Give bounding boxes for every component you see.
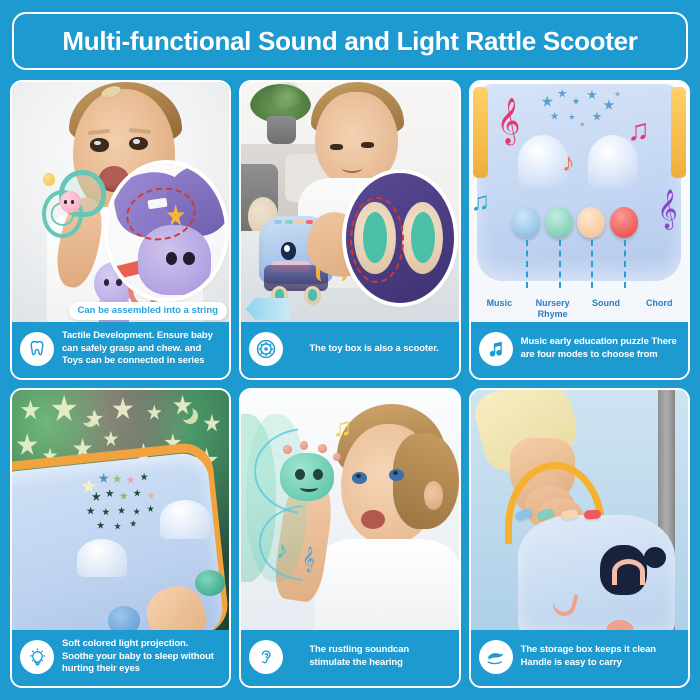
speaker-dome xyxy=(160,500,210,538)
infographic-page: Multi-functional Sound and Light Rattle … xyxy=(0,0,700,700)
star-sparkles xyxy=(536,87,627,135)
panel-music-caption-text: Music early education puzzle There are f… xyxy=(521,336,680,361)
projected-star-cluster xyxy=(79,472,166,539)
panel-scooter-photo xyxy=(241,82,458,322)
panel-tactile-caption-text: Tactile Development. Ensure baby can saf… xyxy=(62,330,221,368)
mode-label-chord: Chord xyxy=(637,298,682,320)
panel-storage-photo xyxy=(471,390,688,630)
panel-hearing-photo: ♫ ♪ 𝄞 xyxy=(241,390,458,630)
treble-clef-icon: 𝄞 xyxy=(302,548,315,570)
mode-button-nursery-rhyme[interactable] xyxy=(545,207,573,238)
music-note-icon xyxy=(479,332,513,366)
panel-projection-caption: Soft colored light projection. Soothe yo… xyxy=(12,630,229,686)
panel-hearing-caption: The rustling soundcan stimulate the hear… xyxy=(241,630,458,686)
panel-music-caption: Music early education puzzle There are f… xyxy=(471,322,688,378)
music-note-icon: ♪ xyxy=(276,539,288,563)
wheel-detail-inset xyxy=(346,173,455,303)
panel-projection: Soft colored light projection. Soothe yo… xyxy=(10,388,231,688)
panel-scooter: The toy box is also a scooter. xyxy=(239,80,460,380)
mode-label-row: Music Nursery Rhyme Sound Chord xyxy=(471,298,688,320)
page-title-bar: Multi-functional Sound and Light Rattle … xyxy=(12,12,688,70)
mode-button-chord[interactable] xyxy=(584,509,602,519)
wheel-icon xyxy=(249,332,283,366)
ear-icon xyxy=(249,640,283,674)
panel-hearing-caption-text: The rustling soundcan stimulate the hear… xyxy=(291,644,450,669)
panel-storage-caption: The storage box keeps it clean Handle is… xyxy=(471,630,688,686)
storage-toy-box xyxy=(518,515,674,630)
music-note-icon: ♪ xyxy=(562,149,575,175)
panel-storage-caption-text: The storage box keeps it clean Handle is… xyxy=(521,644,680,669)
panel-tactile-caption: Tactile Development. Ensure baby can saf… xyxy=(12,322,229,378)
panel-storage: The storage box keeps it clean Handle is… xyxy=(469,388,690,688)
mode-label-nursery-rhyme: Nursery Rhyme xyxy=(530,298,575,320)
mode-label-sound: Sound xyxy=(583,298,628,320)
hand-wipe-icon xyxy=(479,640,513,674)
panel-projection-photo xyxy=(12,390,229,630)
treble-clef-icon: 𝄞 xyxy=(497,101,521,141)
blue-button[interactable] xyxy=(108,606,141,630)
panel-scooter-caption: The toy box is also a scooter. xyxy=(241,322,458,378)
mode-button-chord[interactable] xyxy=(610,207,638,238)
music-note-icon: ♫ xyxy=(471,188,491,214)
teether-toy xyxy=(40,168,105,240)
mode-button-sound[interactable] xyxy=(560,509,578,520)
speaker-dome xyxy=(77,539,127,577)
panel-projection-caption-text: Soft colored light projection. Soothe yo… xyxy=(62,638,221,676)
highlight-dashed-ellipse xyxy=(350,197,404,284)
mode-label-music: Music xyxy=(477,298,522,320)
music-note-icon: ♫ xyxy=(333,414,353,440)
feature-panel-grid: Can be assembled into a string Tactile D… xyxy=(10,80,690,688)
mode-button-music[interactable] xyxy=(512,207,540,238)
assembled-string-badge: Can be assembled into a string xyxy=(69,302,227,319)
detail-inset-circle xyxy=(108,164,225,298)
panel-music: 𝄞 ♪ ♫ ♫ 𝄞 Music Nursery Rhyme Sound Chor… xyxy=(469,80,690,380)
tooth-icon xyxy=(20,332,54,366)
panel-tactile-photo: Can be assembled into a string xyxy=(12,82,229,322)
panel-hearing: ♫ ♪ 𝄞 The rustling soundcan stimulate th… xyxy=(239,388,460,688)
treble-clef-icon: 𝄞 xyxy=(658,192,678,226)
boy-illustration xyxy=(315,92,398,188)
panel-scooter-caption-text: The toy box is also a scooter. xyxy=(291,343,439,356)
music-note-icon: ♫ xyxy=(627,116,650,146)
page-title: Multi-functional Sound and Light Rattle … xyxy=(62,26,637,57)
panel-music-photo: 𝄞 ♪ ♫ ♫ 𝄞 Music Nursery Rhyme Sound Chor… xyxy=(471,82,688,322)
lightbulb-icon xyxy=(20,640,54,674)
panel-tactile: Can be assembled into a string Tactile D… xyxy=(10,80,231,380)
